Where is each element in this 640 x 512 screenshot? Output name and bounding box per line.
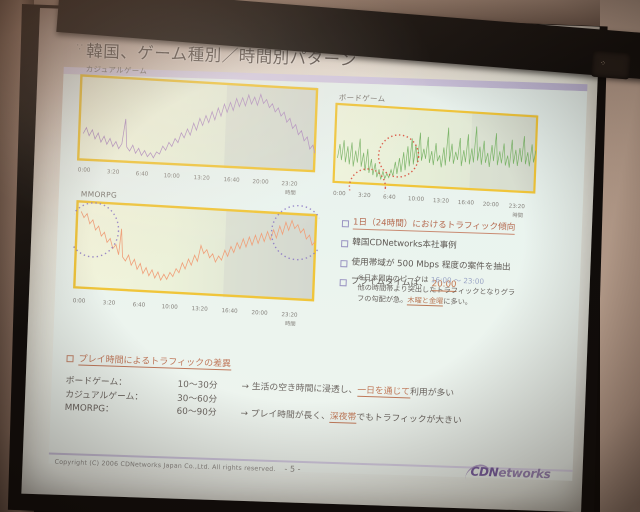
chart-board-tick-0: 0:00: [333, 191, 346, 197]
chart-board-tick-3: 10:00: [408, 196, 424, 203]
screen-housing-endcap: ⁘: [591, 51, 631, 80]
comparison-row-3-arrow: →: [240, 409, 248, 419]
chart-board-tick-4: 13:20: [433, 198, 449, 205]
comparison-row-1-desc-pre: 生活の空き時間に浸透し、: [252, 382, 358, 395]
page-number: - 5 -: [284, 464, 300, 474]
chart-board-svg: [331, 100, 539, 197]
chart-casual-tick-0: 0:00: [78, 167, 91, 173]
bullet-square-icon: [340, 279, 347, 286]
comparison-row-1-desc-post: 利用が多い: [410, 387, 454, 398]
chart-mmorpg-axis-unit: 時間: [285, 319, 296, 327]
chart-casual-tick-4: 13:20: [193, 175, 209, 182]
bullet-item-3-text: 使用帯域が 500 Mbps 程度の案件を抽出: [351, 258, 510, 273]
chart-mmorpg-tick-6: 20:00: [251, 310, 267, 317]
cdnetworks-logo: CDNetworks: [470, 465, 551, 482]
chart-casual-tick-7: 23:20: [281, 181, 297, 188]
housing-marking: ⁘: [600, 59, 607, 68]
chart-casual-tick-3: 10:00: [164, 173, 180, 180]
chart-mmorpg-svg: [71, 197, 320, 305]
comparison-row-1-arrow: →: [241, 382, 249, 392]
comparison-row-1-desc-highlight: 一日を通じて: [357, 386, 410, 399]
projection-screen-surface: ∵韓国、ゲーム種別／時間別パターン カジュアルゲーム: [21, 8, 599, 512]
bullet-item-2: 韓国CDNetworks本社事例: [341, 238, 573, 256]
chart-mmorpg-tick-3: 10:00: [161, 304, 177, 311]
note-line-3-highlight: 木曜と金曜: [407, 295, 443, 306]
note-line-1-pre: ※日本国内のピークは: [358, 273, 431, 284]
chart-casual-tick-1: 3:20: [107, 169, 120, 175]
chart-mmorpg-tick-0: 0:00: [73, 298, 86, 304]
chart-casual: [76, 71, 320, 174]
chart-board-tick-5: 16:40: [458, 200, 474, 207]
chart-mmorpg-tick-4: 13:20: [191, 306, 207, 313]
chart-mmorpg: [71, 197, 320, 305]
chart-board-tick-2: 6:40: [383, 194, 396, 200]
chart-mmorpg-tick-2: 6:40: [133, 302, 146, 308]
chart-mmorpg-tick-7: 23:20: [281, 312, 297, 319]
chart-casual-tick-6: 20:00: [252, 179, 268, 186]
logo-cdn-text: CDN: [470, 465, 498, 480]
logo-networks-text: etworks: [498, 465, 551, 481]
bullet-square-icon: [340, 260, 347, 267]
chart-board: [331, 100, 539, 197]
slide: ∵韓国、ゲーム種別／時間別パターン カジュアルゲーム: [32, 20, 589, 500]
bullet-square-icon: [341, 240, 348, 247]
title-marker-icon: ∵: [76, 42, 83, 53]
bullet-square-icon: [66, 355, 73, 362]
comparison-row-3-duration: 60～90分: [176, 406, 240, 422]
comparison-row-3-desc-post: でもトラフィックが大きい: [356, 413, 462, 426]
chart-board-tick-7: 23:20: [509, 204, 525, 211]
chart-casual-svg: [76, 71, 320, 174]
note-line-3-post: に多い。: [443, 296, 472, 306]
chart-board-tick-6: 20:00: [483, 202, 499, 209]
chart-casual-tick-5: 16:40: [223, 177, 239, 184]
chart-board-tick-1: 3:20: [358, 193, 371, 199]
note-peak-range: 16:00 ～ 23:00: [431, 275, 485, 286]
bullet-square-icon: [342, 220, 349, 227]
chart-board-axis-unit: 時間: [512, 211, 523, 219]
bullet-item-2-text: 韓国CDNetworks本社事例: [352, 239, 457, 252]
chart-casual-axis-unit: 時間: [285, 188, 296, 196]
projected-slide-photo: ∵韓国、ゲーム種別／時間別パターン カジュアルゲーム: [0, 0, 640, 512]
comparison-row-3-desc-pre: プレイ時間が長く、: [251, 409, 331, 422]
chart-mmorpg-tick-5: 16:40: [221, 308, 237, 315]
chart-mmorpg-tick-1: 3:20: [103, 300, 116, 306]
comparison-row-3-desc-highlight: 深夜帯: [330, 412, 357, 424]
note-line-3-pre: フの勾配が急。: [357, 294, 408, 305]
chart-casual-tick-2: 6:40: [136, 171, 149, 177]
